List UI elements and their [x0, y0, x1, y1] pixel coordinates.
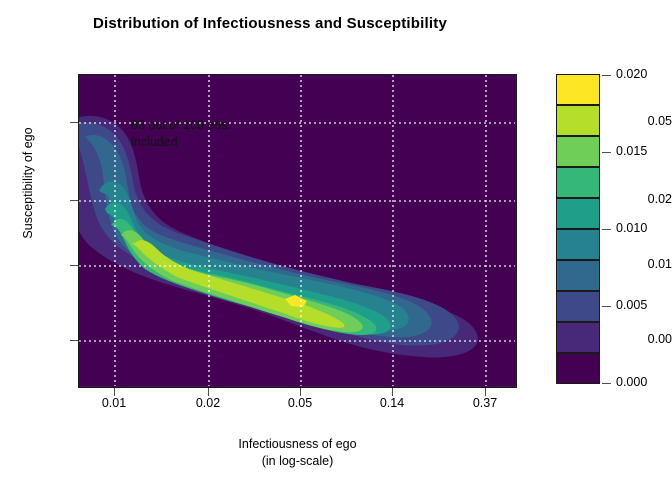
- legend-band: [556, 353, 600, 384]
- contour-plot-area: 83 out of 100 obs. included: [78, 74, 517, 388]
- legend-tick-label: 0.005: [616, 298, 647, 312]
- color-legend: [556, 74, 600, 384]
- y-tick-mark: [70, 340, 78, 341]
- legend-tick-label: 0.010: [616, 221, 647, 235]
- y-axis-label: Susceptibility of ego: [21, 93, 35, 273]
- legend-band: [556, 229, 600, 260]
- y-tick-label: 0.00: [626, 332, 672, 346]
- legend-band: [556, 74, 600, 105]
- legend-band: [556, 322, 600, 353]
- x-tick-label: 0.05: [270, 396, 330, 410]
- legend-band: [556, 291, 600, 322]
- legend-band: [556, 136, 600, 167]
- x-tick-mark: [485, 388, 486, 396]
- legend-tick-label: 0.015: [616, 144, 647, 158]
- x-tick-mark: [114, 388, 115, 396]
- legend-band: [556, 167, 600, 198]
- y-tick-label: 0.01: [626, 257, 672, 271]
- legend-band: [556, 260, 600, 291]
- x-tick-label: 0.01: [84, 396, 144, 410]
- legend-tick-mark: [602, 152, 611, 153]
- legend-tick-mark: [602, 75, 611, 76]
- y-tick-mark: [70, 122, 78, 123]
- observation-annotation: 83 out of 100 obs. included: [131, 117, 341, 151]
- x-tick-label: 0.37: [455, 396, 515, 410]
- legend-tick-mark: [602, 306, 611, 307]
- x-axis-label: Infectiousness of ego (in log-scale): [78, 436, 517, 470]
- legend-tick-label: 0.020: [616, 67, 647, 81]
- x-tick-label: 0.02: [178, 396, 238, 410]
- y-tick-mark: [70, 265, 78, 266]
- legend-band: [556, 105, 600, 136]
- x-tick-mark: [208, 388, 209, 396]
- legend-tick-mark: [602, 383, 611, 384]
- chart-root: Distribution of Infectiousness and Susce…: [0, 0, 672, 480]
- legend-tick-mark: [602, 229, 611, 230]
- x-tick-mark: [300, 388, 301, 396]
- x-tick-label: 0.14: [362, 396, 422, 410]
- page-title: Distribution of Infectiousness and Susce…: [0, 14, 540, 34]
- legend-band: [556, 198, 600, 229]
- y-tick-label: 0.05: [626, 114, 672, 128]
- y-tick-label: 0.02: [626, 192, 672, 206]
- x-tick-mark: [392, 388, 393, 396]
- y-tick-mark: [70, 200, 78, 201]
- legend-tick-label: 0.000: [616, 375, 647, 389]
